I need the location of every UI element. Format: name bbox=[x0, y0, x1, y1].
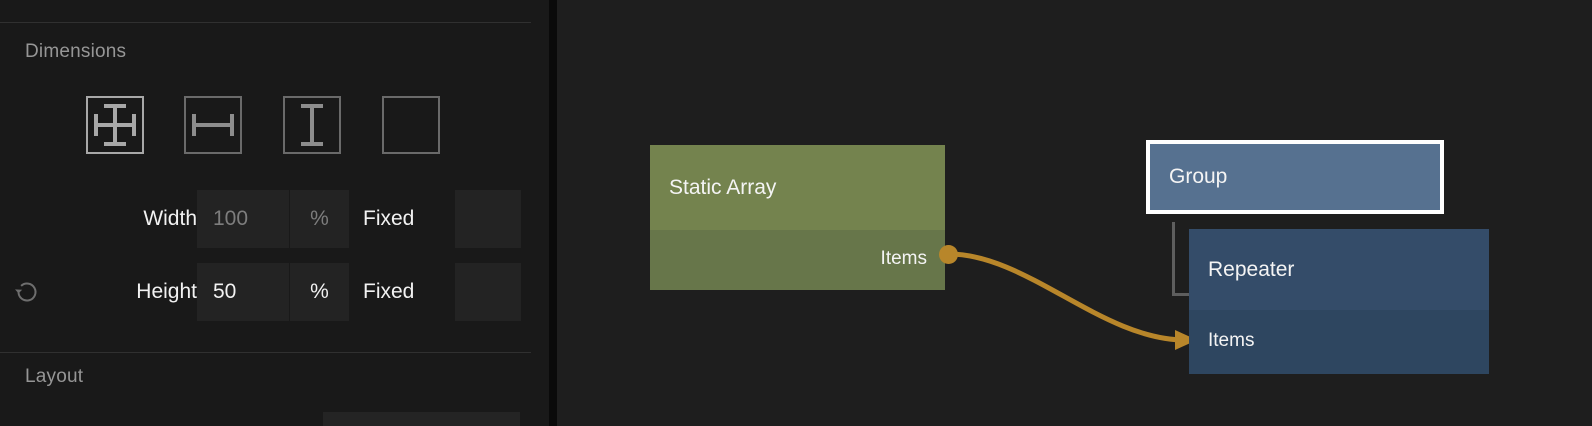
constraint-vertical-icon bbox=[285, 98, 339, 152]
height-unit: % bbox=[310, 280, 329, 304]
height-unit-selector[interactable]: % bbox=[290, 263, 349, 321]
node-repeater-title: Repeater bbox=[1189, 229, 1489, 310]
constraint-both-button[interactable] bbox=[86, 96, 144, 154]
width-extra-field[interactable] bbox=[455, 190, 521, 248]
dimension-row-width: Width 100 % Fixed bbox=[0, 190, 549, 248]
constraint-both-icon bbox=[88, 98, 142, 152]
inspector-panel: Dimensions bbox=[0, 0, 549, 426]
section-title-layout: Layout bbox=[25, 366, 83, 388]
node-graph-canvas[interactable]: Static Array Items Group Repeater Items bbox=[557, 0, 1592, 426]
node-static-array-title: Static Array bbox=[650, 145, 945, 230]
node-static-array[interactable]: Static Array Items bbox=[650, 145, 945, 290]
width-mode-label[interactable]: Fixed bbox=[363, 207, 414, 231]
port-dot-static-array-items[interactable] bbox=[939, 245, 958, 264]
height-value: 50 bbox=[197, 280, 236, 304]
height-extra-field[interactable] bbox=[455, 263, 521, 321]
layout-field-partial[interactable] bbox=[323, 412, 520, 426]
edge-static-array-items-to-repeater-items bbox=[949, 254, 1185, 340]
constraint-horizontal-button[interactable] bbox=[184, 96, 242, 154]
node-group-title: Group bbox=[1150, 144, 1440, 210]
width-unit-selector[interactable]: % bbox=[290, 190, 349, 248]
constraint-none-icon bbox=[384, 98, 438, 152]
section-title-dimensions: Dimensions bbox=[25, 41, 126, 63]
port-repeater-items[interactable]: Items bbox=[1208, 330, 1254, 352]
height-input[interactable]: 50 bbox=[197, 263, 289, 321]
constraint-horizontal-icon bbox=[186, 98, 240, 152]
node-repeater[interactable]: Repeater Items bbox=[1189, 229, 1489, 374]
node-static-array-body: Items bbox=[650, 230, 945, 290]
port-static-array-items[interactable]: Items bbox=[881, 248, 927, 270]
section-divider-layout bbox=[0, 352, 531, 353]
node-group[interactable]: Group bbox=[1146, 140, 1444, 214]
section-divider-top bbox=[0, 22, 531, 23]
width-input[interactable]: 100 bbox=[197, 190, 289, 248]
height-mode-label[interactable]: Fixed bbox=[363, 280, 414, 304]
width-unit: % bbox=[310, 207, 329, 231]
dimension-row-height: Height 50 % Fixed bbox=[0, 263, 549, 321]
constraint-vertical-button[interactable] bbox=[283, 96, 341, 154]
width-label: Width bbox=[143, 207, 197, 231]
height-label: Height bbox=[136, 280, 197, 304]
width-value: 100 bbox=[197, 207, 248, 231]
node-repeater-body: Items bbox=[1189, 310, 1489, 374]
constraint-none-button[interactable] bbox=[382, 96, 440, 154]
